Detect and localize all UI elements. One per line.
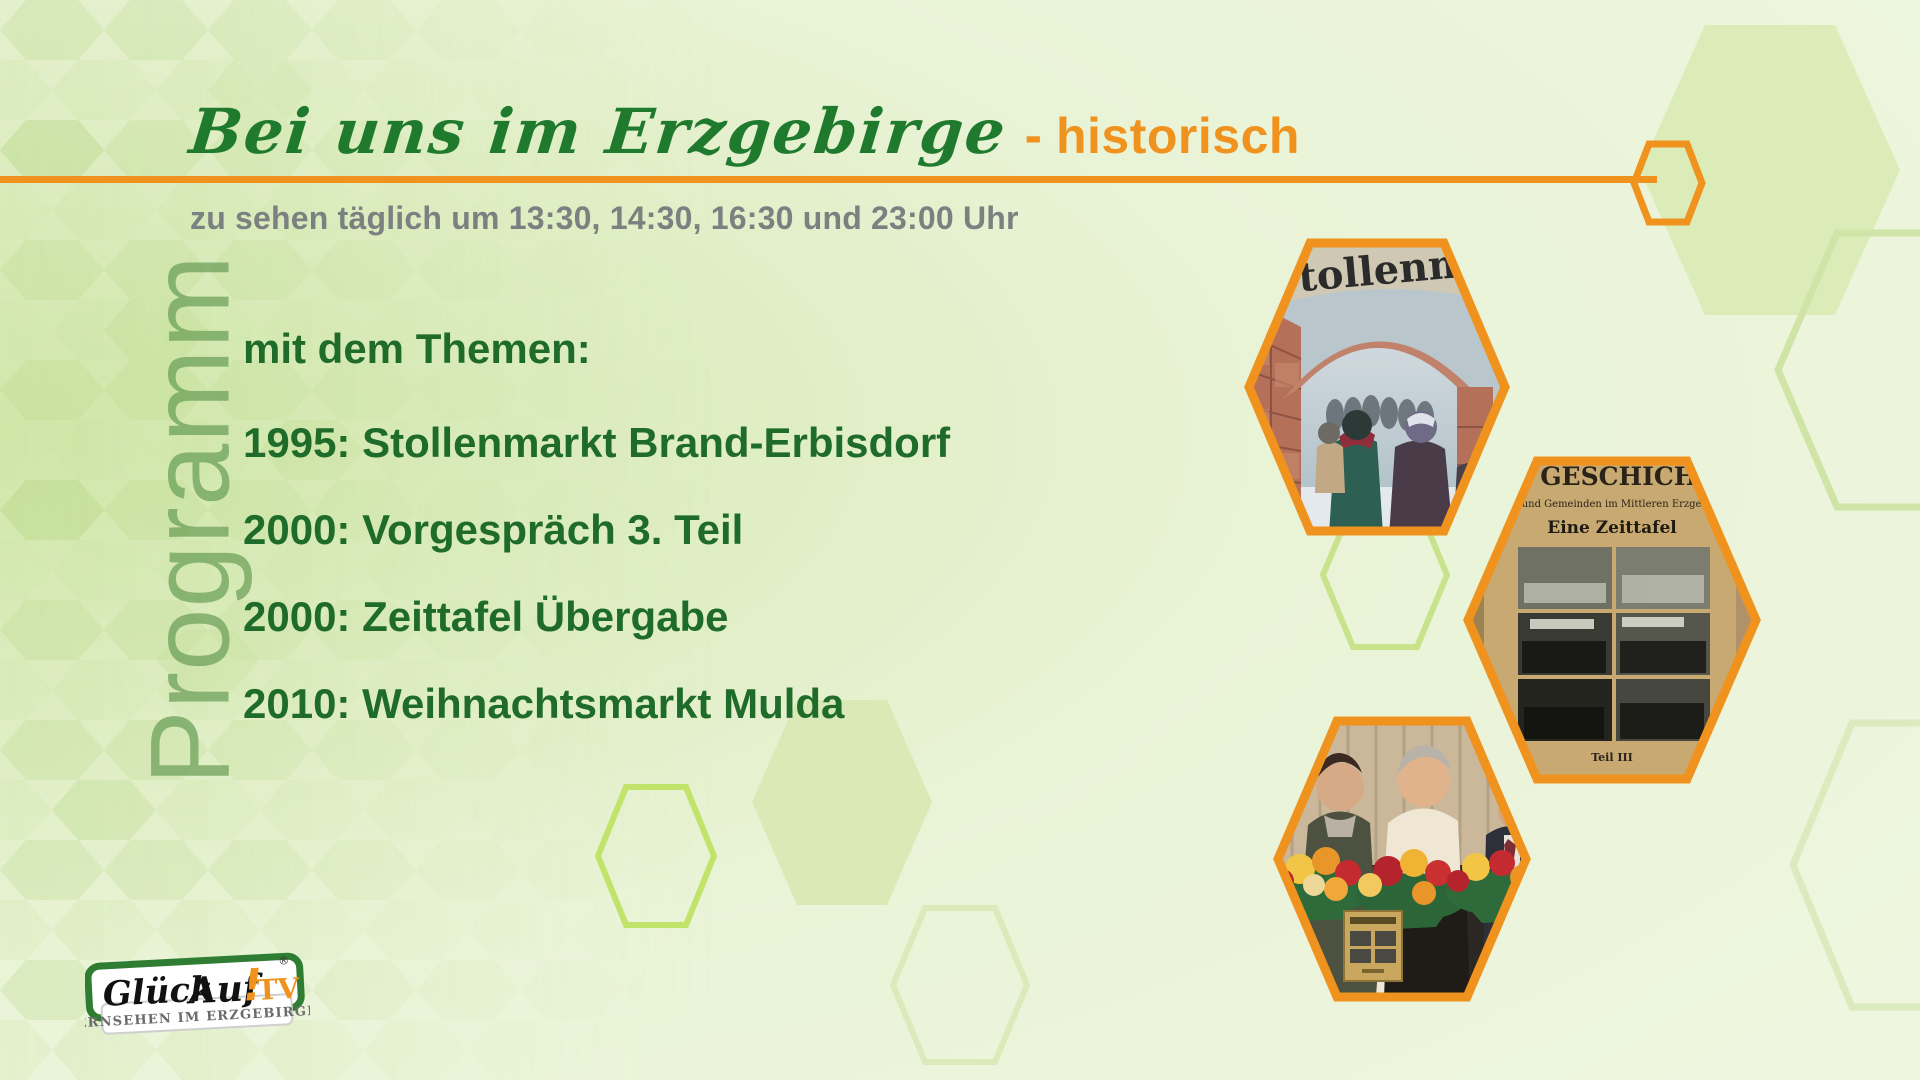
- list-item: 2000: Vorgespräch 3. Teil: [243, 506, 950, 554]
- svg-text:®: ®: [278, 954, 290, 968]
- list-item: 2000: Zeittafel Übergabe: [243, 593, 950, 641]
- hex-outline-center-bottom: [890, 905, 1030, 1065]
- svg-text:TV: TV: [256, 972, 302, 1007]
- header-rule: [0, 176, 1657, 183]
- svg-text:Teil III: Teil III: [1591, 751, 1633, 764]
- broadcast-slide: Bei uns im Erzgebirge - historisch zu se…: [0, 0, 1920, 1080]
- photo-uebergabe: [1272, 715, 1532, 1003]
- title-dash: -: [1025, 106, 1042, 166]
- list-item: 1995: Stollenmarkt Brand-Erbisdorf: [243, 419, 950, 467]
- hex-outline-right-upper: [1775, 230, 1920, 510]
- page-title: Bei uns im Erzgebirge - historisch: [190, 95, 1300, 168]
- hex-outline-bright-left: [595, 784, 717, 929]
- broadcast-times: zu sehen täglich um 13:30, 14:30, 16:30 …: [190, 200, 1019, 237]
- title-highlight-part: historisch: [1056, 107, 1300, 165]
- program-lead: mit dem Themen:: [243, 325, 950, 373]
- hexagon-outline-icon: [1630, 140, 1706, 231]
- program-list: 1995: Stollenmarkt Brand-Erbisdorf 2000:…: [243, 419, 950, 728]
- program-content: mit dem Themen: 1995: Stollenmarkt Brand…: [243, 325, 950, 767]
- logo-glueckauf-tv: FERNSEHEN IM ERZGEBIRGE Glück Auf ! ® TV: [85, 945, 310, 1045]
- list-item: 2010: Weihnachtsmarkt Mulda: [243, 680, 950, 728]
- svg-text:Eine Zeittafel: Eine Zeittafel: [1547, 518, 1677, 538]
- title-script-part: Bei uns im Erzgebirge: [186, 95, 1010, 168]
- hex-outline-right-lower: [1790, 720, 1920, 1010]
